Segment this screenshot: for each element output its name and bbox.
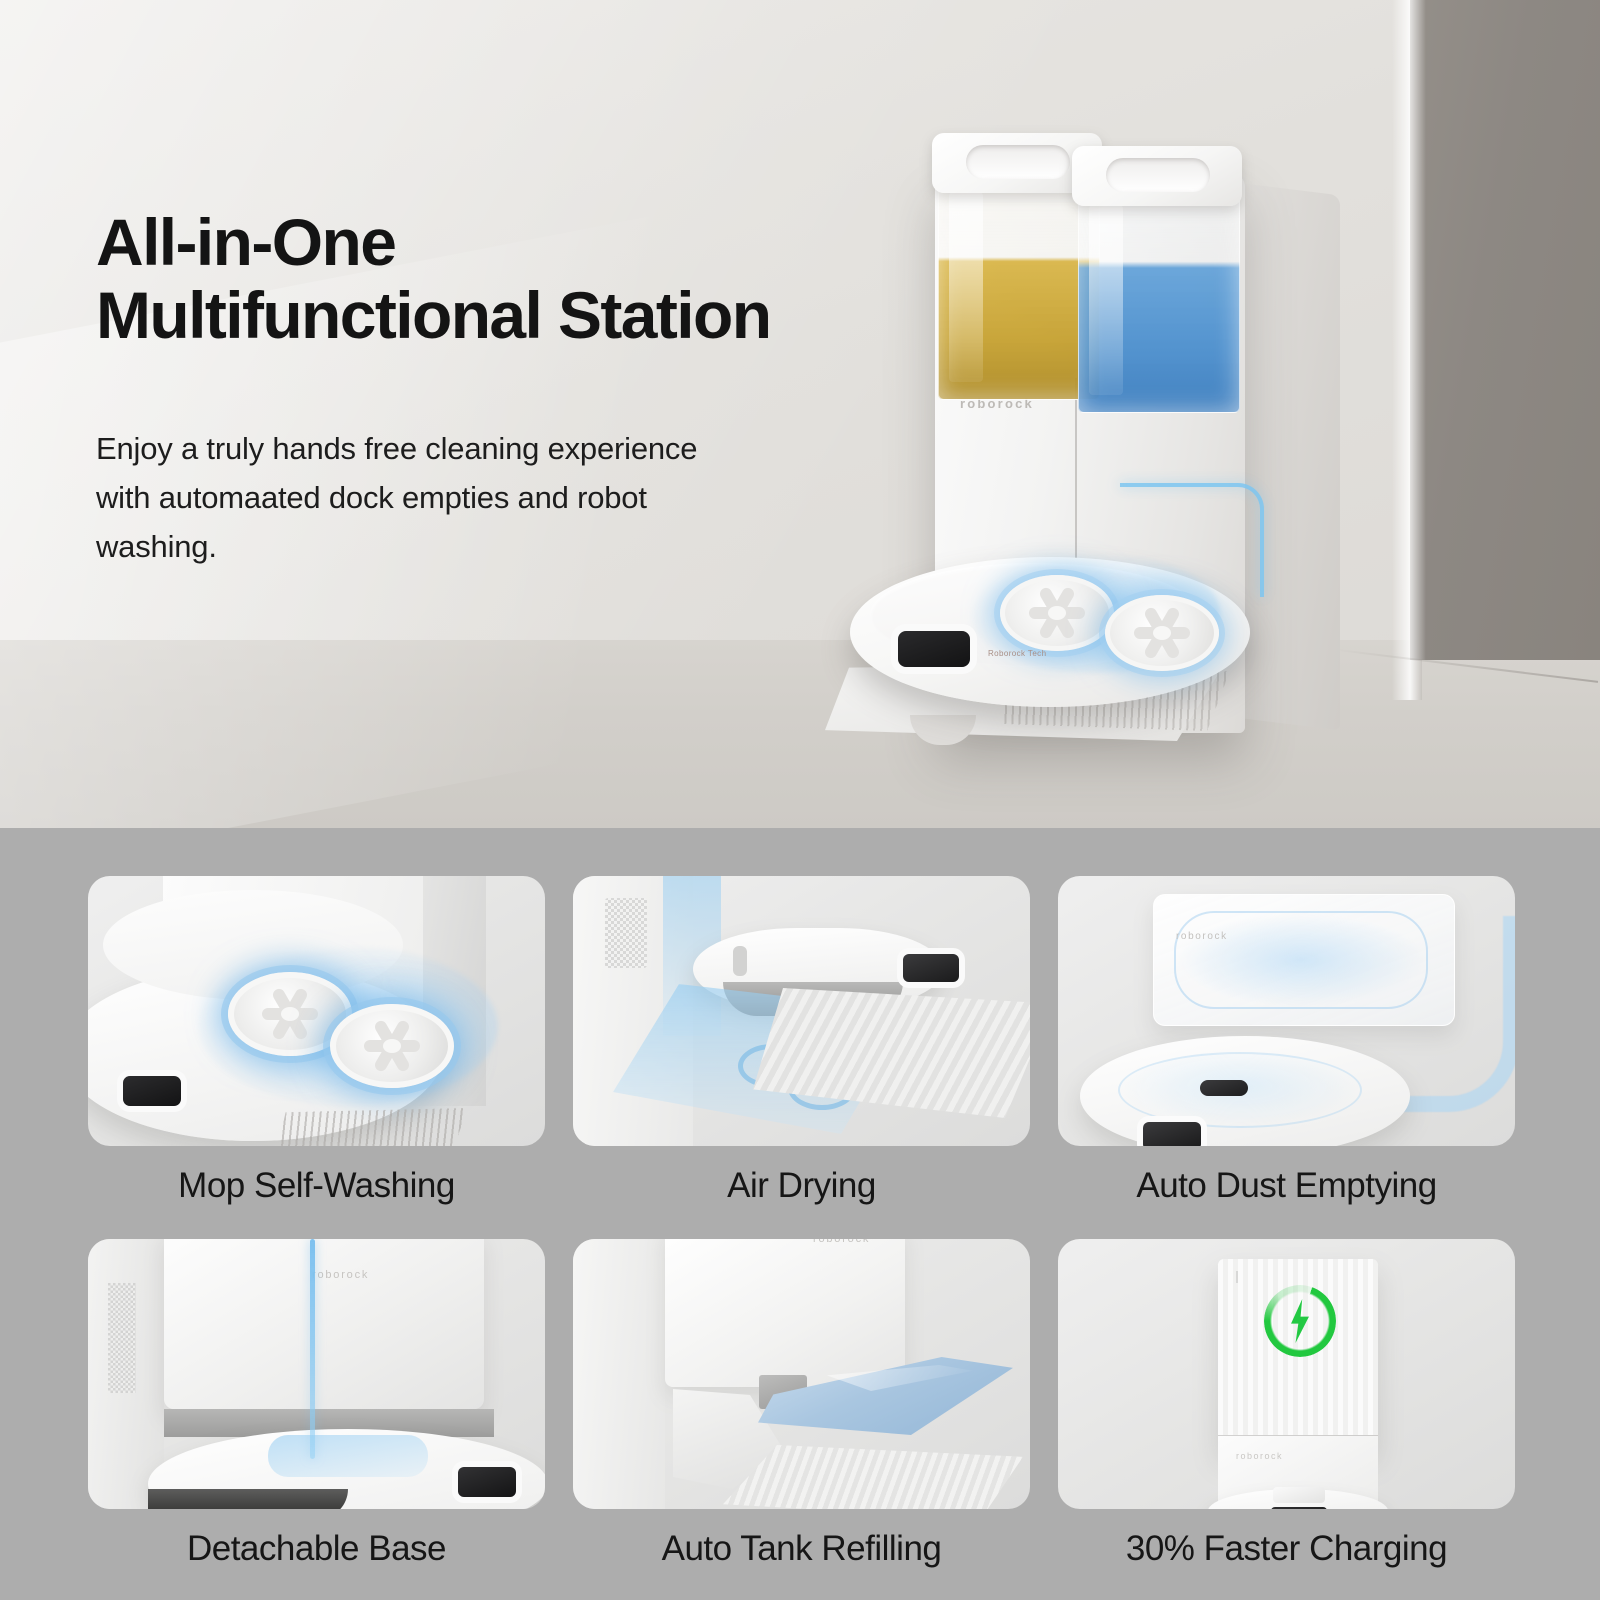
- vent-dot-grille: [108, 1283, 136, 1393]
- headline-line-1: All-in-One: [96, 205, 395, 279]
- lid-handle-recess: [1106, 158, 1210, 192]
- mop-hub: [383, 1039, 401, 1053]
- brand-logo: roborock: [1176, 931, 1228, 942]
- tank-gloss: [949, 192, 983, 382]
- feature-item-mop-self-washing[interactable]: Mop Self-Washing: [88, 876, 545, 1229]
- mop-hub: [1048, 606, 1066, 620]
- air-vent-grille: [605, 898, 647, 968]
- robot-sensor-window: [123, 1076, 181, 1106]
- mop-pad-left: [1000, 575, 1114, 651]
- robot-badge: Roborock Tech: [988, 649, 1046, 658]
- robot-sensor-window: [903, 954, 959, 982]
- feature-image-auto-dust-emptying: roborock: [1058, 876, 1515, 1146]
- feature-label: Detachable Base: [88, 1509, 545, 1592]
- robot-sensor-window: [898, 631, 970, 667]
- robot-button: [733, 946, 747, 976]
- feature-grid: Mop Self-Washing Air Drying: [88, 876, 1515, 1592]
- feature-item-auto-tank-refilling[interactable]: roborock Auto Tank Refilling: [573, 1239, 1030, 1592]
- feature-image-faster-charging: roborock: [1058, 1239, 1515, 1509]
- headline-line-2: Multifunctional Station: [96, 279, 926, 352]
- mop-pad-right: [1105, 595, 1219, 671]
- brand-logo: roborock: [312, 1269, 369, 1281]
- lid-handle-recess: [966, 145, 1070, 179]
- clean-water-tank: [1078, 196, 1240, 413]
- feature-image-detachable-base: roborock: [88, 1239, 545, 1509]
- robot-vacuum: Roborock Tech: [850, 533, 1280, 723]
- feature-item-auto-dust-emptying[interactable]: roborock Auto Dust Emptying: [1058, 876, 1515, 1229]
- feature-item-detachable-base[interactable]: roborock Detachable Base: [88, 1239, 545, 1592]
- mop-hub: [1153, 626, 1171, 640]
- hero-section: All-in-One Multifunctional Station Enjoy…: [0, 0, 1600, 828]
- dirty-water-tank: [938, 183, 1100, 400]
- feature-image-mop-self-washing: [88, 876, 545, 1146]
- feature-label: Auto Tank Refilling: [573, 1509, 1030, 1592]
- robot-sensor-window: [458, 1467, 516, 1497]
- water-stream: [310, 1239, 315, 1459]
- dock-ramp-notch: [910, 715, 976, 745]
- robot-sensor-window: [1271, 1507, 1327, 1509]
- dust-bag: roborock: [1153, 894, 1455, 1026]
- feature-label: Mop Self-Washing: [88, 1146, 545, 1229]
- base-shadow: [148, 1489, 348, 1509]
- feature-label: 30% Faster Charging: [1058, 1509, 1515, 1592]
- product-feature-page: All-in-One Multifunctional Station Enjoy…: [0, 0, 1600, 1600]
- robot-sensor-window: [1143, 1122, 1201, 1146]
- feature-item-faster-charging[interactable]: roborock 30% Faster Charging: [1058, 1239, 1515, 1592]
- brand-logo: roborock: [1236, 1451, 1283, 1461]
- clean-tank-lid: [1072, 146, 1242, 206]
- features-section: Mop Self-Washing Air Drying: [0, 828, 1600, 1600]
- feature-image-auto-tank-refilling: roborock: [573, 1239, 1030, 1509]
- feature-label: Air Drying: [573, 1146, 1030, 1229]
- dock-wall-panel: [573, 1239, 665, 1509]
- hero-subtext: Enjoy a truly hands free cleaning experi…: [96, 425, 716, 572]
- tank-gloss: [1089, 205, 1123, 395]
- hero-product-illustration: roborock: [820, 78, 1440, 778]
- charging-contacts: [1273, 1487, 1325, 1503]
- water-pool: [268, 1435, 428, 1477]
- mop-pad-right: [330, 1004, 454, 1088]
- dust-bag-chamber: [1174, 911, 1428, 1009]
- dock-indicator: [1236, 1271, 1238, 1283]
- dock-seam: [1218, 1435, 1378, 1436]
- feature-item-air-drying[interactable]: Air Drying: [573, 876, 1030, 1229]
- dock-ramp-grill: [278, 1108, 468, 1146]
- dust-nozzle: [1200, 1080, 1248, 1096]
- feature-image-air-drying: [573, 876, 1030, 1146]
- feature-label: Auto Dust Emptying: [1058, 1146, 1515, 1229]
- dock-body: roborock: [164, 1239, 484, 1409]
- page-title: All-in-One Multifunctional Station: [96, 206, 926, 351]
- dock-body: roborock: [665, 1239, 905, 1387]
- brand-logo: roborock: [813, 1239, 870, 1245]
- hero-copy: All-in-One Multifunctional Station Enjoy…: [96, 206, 926, 572]
- mop-hub: [281, 1007, 299, 1021]
